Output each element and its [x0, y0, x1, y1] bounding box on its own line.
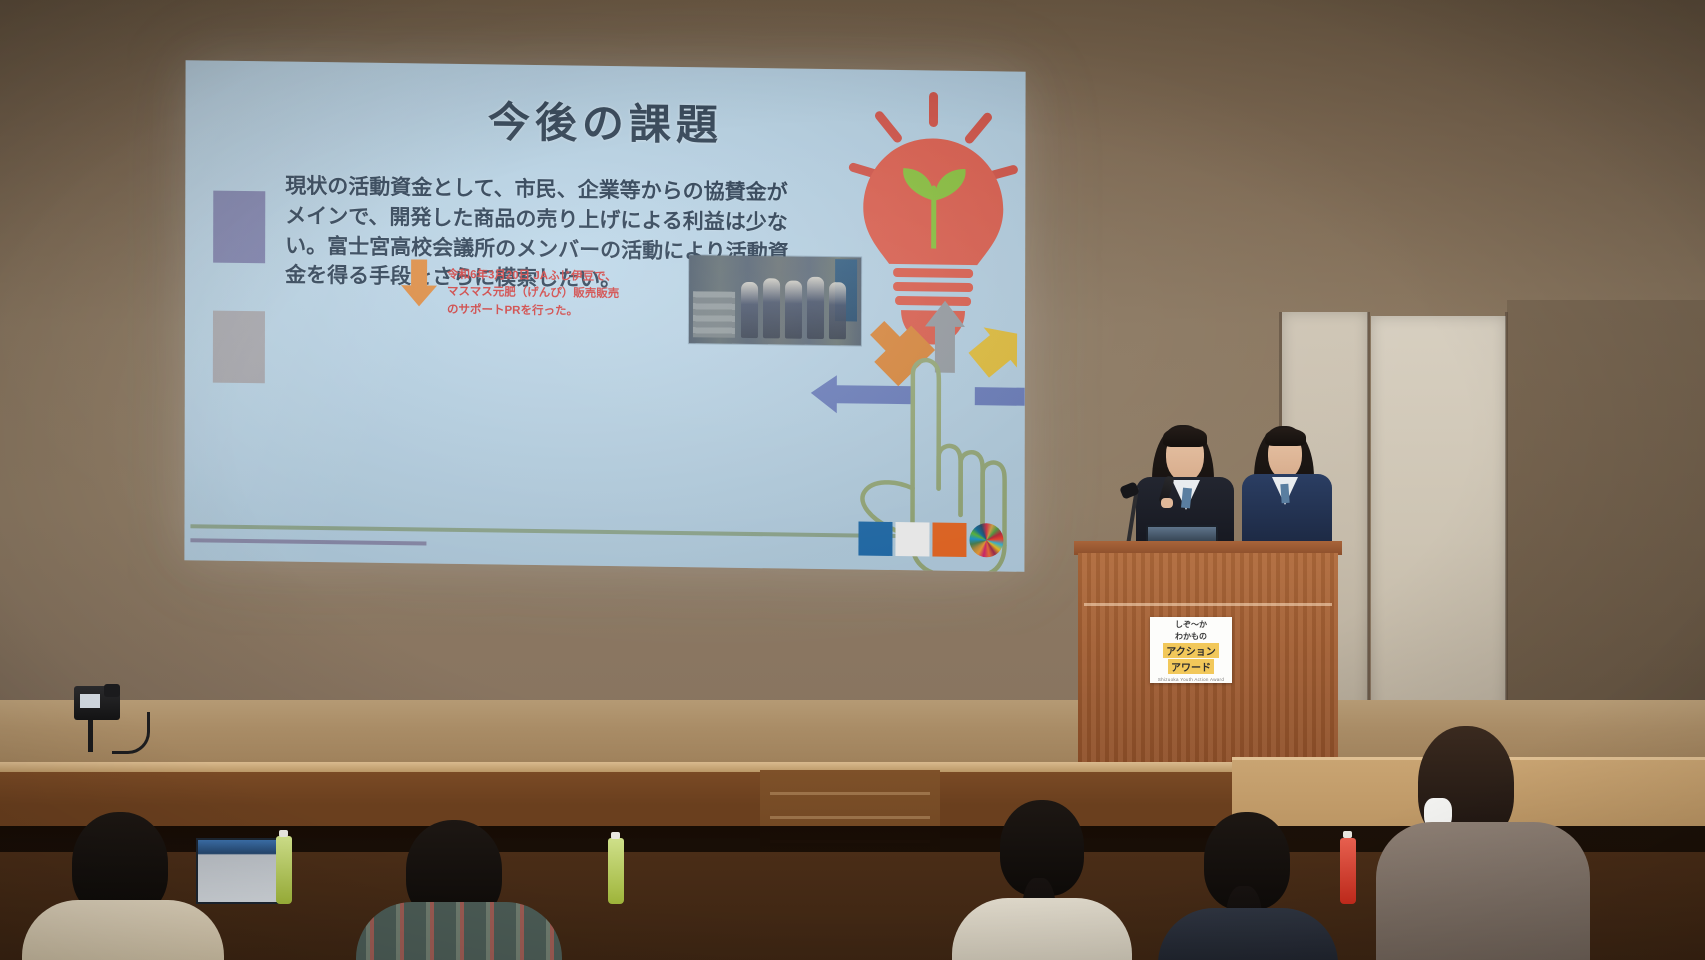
sdgs-wheel-icon: [969, 523, 1003, 557]
podium: しぞ〜か わかもの アクション アワード Shizuoka Youth Acti…: [1074, 541, 1342, 767]
podium-sign-line-1: しぞ〜か: [1175, 619, 1207, 630]
monitor-icon: [196, 838, 288, 904]
shoulders: [1376, 822, 1590, 960]
red-drink-bottle[interactable]: [1340, 838, 1356, 904]
stair-step: [770, 816, 930, 819]
projection-screen: 今後の課題 現状の活動資金として、市民、企業等からの協賛金がメインで、開発した商…: [184, 60, 1025, 572]
podium-sign-line-3: アクション: [1163, 643, 1219, 658]
fringe: [1163, 427, 1207, 447]
podium-sign: しぞ〜か わかもの アクション アワード Shizuoka Youth Acti…: [1150, 617, 1232, 683]
shoulders: [356, 902, 562, 960]
camera-lens: [104, 684, 120, 697]
fringe: [1265, 428, 1306, 446]
slide-content: 今後の課題 現状の活動資金として、市民、企業等からの協賛金がメインで、開発した商…: [184, 60, 1025, 572]
podium-sign-subtitle: Shizuoka Youth Action Award: [1158, 677, 1224, 682]
panel-seam: [1505, 312, 1508, 724]
sdgs-cell-2: [895, 522, 929, 556]
shoulders: [22, 900, 224, 960]
hand: [1161, 498, 1173, 508]
podium-sign-line-4: アワード: [1168, 659, 1214, 674]
bottle-cap: [611, 832, 620, 839]
sdgs-cell-1: [858, 522, 892, 556]
podium-groove: [1084, 603, 1332, 606]
stair-step: [770, 792, 930, 795]
auditorium-scene: 今後の課題 現状の活動資金として、市民、企業等からの協賛金がメインで、開発した商…: [0, 0, 1705, 960]
green-tea-bottle[interactable]: [276, 836, 292, 904]
shoulders: [1158, 908, 1338, 960]
bottle-cap: [279, 830, 288, 837]
necktie: [1280, 484, 1289, 504]
camera-tripod: [88, 718, 93, 752]
down-arrow-icon: [399, 259, 439, 308]
right-wall-section: [1507, 300, 1705, 724]
podium-sign-line-2: わかもの: [1175, 631, 1207, 642]
bottle-cap: [1343, 831, 1352, 838]
camera-screen: [80, 694, 100, 708]
shoulders: [952, 898, 1132, 960]
slide-footer-rule-green: [190, 524, 900, 538]
wall-panel-right: [1371, 316, 1506, 724]
sdgs-cell-3: [932, 523, 966, 557]
panel-seam: [1367, 312, 1370, 724]
slide-footer-rule-purple: [190, 538, 426, 545]
sdgs-logo: [858, 522, 1010, 558]
bullet-marker-a: [213, 191, 265, 264]
bullet-marker-b: [213, 311, 265, 384]
slide-red-note: 令和6年3月20日 JAふじ伊豆で、マスマス元肥（げんぴ）販売販売のサポートPR…: [447, 267, 622, 321]
green-tea-bottle-2[interactable]: [608, 838, 624, 904]
